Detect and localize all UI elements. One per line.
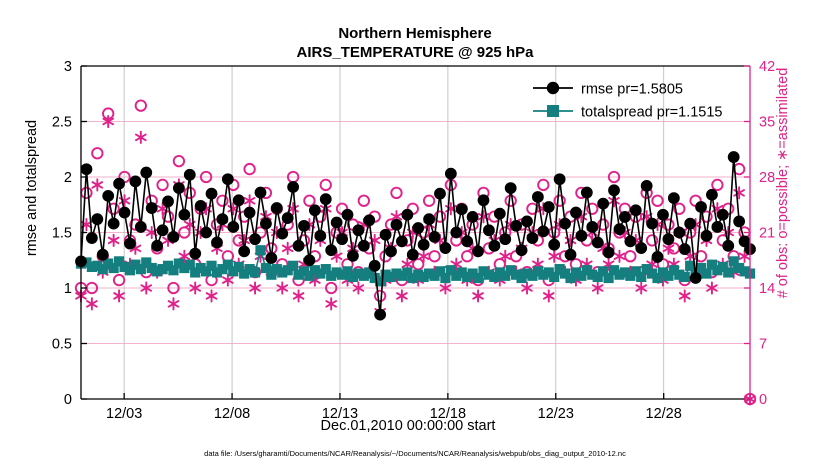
rmse-marker bbox=[114, 178, 125, 189]
rmse-marker bbox=[625, 236, 636, 247]
obs-possible-marker bbox=[244, 164, 254, 174]
rmse-marker bbox=[636, 243, 647, 254]
legend: rmse pr=1.5805totalspread pr=1.1515 bbox=[533, 81, 722, 120]
obs-assimilated-marker bbox=[245, 195, 255, 206]
obs-assimilated-marker bbox=[169, 298, 179, 309]
rmse-marker bbox=[440, 243, 451, 254]
rmse-marker bbox=[244, 207, 255, 218]
rmse-marker bbox=[532, 192, 543, 203]
rmse-marker bbox=[707, 189, 718, 200]
rmse-marker bbox=[685, 218, 696, 229]
rmse-marker bbox=[516, 245, 527, 256]
obs-possible-marker bbox=[391, 188, 401, 198]
obs-assimilated-marker bbox=[114, 290, 124, 301]
rmse-marker bbox=[701, 230, 712, 241]
totalspread-marker bbox=[702, 269, 711, 278]
rmse-marker bbox=[250, 234, 261, 245]
rmse-marker bbox=[592, 237, 603, 248]
plot-canvas: 00.511.522.5307142128354212/0312/0812/13… bbox=[0, 0, 830, 470]
rmse-marker bbox=[494, 208, 505, 219]
obs-assimilated-marker bbox=[207, 290, 217, 301]
rmse-marker bbox=[184, 169, 195, 180]
rmse-marker bbox=[125, 238, 136, 249]
rmse-marker bbox=[402, 209, 413, 220]
rmse-marker bbox=[163, 196, 174, 207]
rmse-marker bbox=[239, 246, 250, 257]
obs-possible-marker bbox=[359, 196, 369, 206]
rmse-marker bbox=[424, 214, 435, 225]
totalspread-marker bbox=[250, 268, 259, 277]
obs-possible-marker bbox=[174, 156, 184, 166]
rmse-marker bbox=[108, 218, 119, 229]
rmse-marker bbox=[391, 219, 402, 230]
rmse-marker bbox=[174, 183, 185, 194]
rmse-marker bbox=[728, 152, 739, 163]
totalspread-marker bbox=[724, 268, 733, 277]
rmse-marker bbox=[152, 240, 163, 251]
rmse-marker bbox=[647, 218, 658, 229]
ytick-right-label: 14 bbox=[759, 281, 775, 297]
obs-assimilated-marker bbox=[87, 298, 97, 309]
rmse-marker bbox=[467, 212, 478, 223]
rmse-marker bbox=[206, 188, 217, 199]
rmse-marker bbox=[369, 260, 380, 271]
ytick-left-label: 2 bbox=[64, 170, 72, 186]
rmse-marker bbox=[473, 246, 484, 257]
rmse-marker bbox=[614, 224, 625, 235]
rmse-marker bbox=[717, 209, 728, 220]
rmse-marker bbox=[505, 183, 516, 194]
legend-marker-square bbox=[547, 105, 559, 117]
obs-assimilated-marker bbox=[92, 179, 102, 190]
rmse-marker bbox=[190, 248, 201, 259]
rmse-marker bbox=[723, 240, 734, 251]
rmse-marker bbox=[543, 202, 554, 213]
rmse-marker bbox=[554, 174, 565, 185]
legend-label-0: rmse pr=1.5805 bbox=[581, 81, 683, 97]
obs-possible-marker bbox=[505, 196, 515, 206]
rmse-marker bbox=[500, 234, 511, 245]
obs-assimilated-marker bbox=[680, 290, 690, 301]
rmse-marker bbox=[696, 202, 707, 213]
rmse-marker bbox=[320, 194, 331, 205]
rmse-marker bbox=[522, 216, 533, 227]
obs-possible-marker bbox=[462, 251, 472, 261]
rmse-marker bbox=[97, 249, 108, 260]
rmse-marker bbox=[668, 193, 679, 204]
obs-assimilated-marker bbox=[283, 243, 293, 254]
rmse-marker bbox=[712, 222, 723, 233]
obs-possible-marker bbox=[429, 251, 439, 261]
rmse-marker bbox=[261, 218, 272, 229]
obs-possible-marker bbox=[114, 275, 124, 285]
rmse-marker bbox=[299, 220, 310, 231]
rmse-marker bbox=[282, 213, 293, 224]
obs-possible-marker bbox=[375, 291, 385, 301]
rmse-marker bbox=[358, 240, 369, 251]
rmse-marker bbox=[690, 273, 701, 284]
rmse-marker bbox=[663, 234, 674, 245]
rmse-marker bbox=[734, 216, 745, 227]
y-axis-right-label: # of obs: o=possible; ∗=assimilated bbox=[775, 33, 791, 333]
obs-possible-marker bbox=[92, 148, 102, 158]
y-axis-left-label: rmse and totalspread bbox=[24, 38, 40, 338]
obs-possible-marker bbox=[652, 196, 662, 206]
obs-assimilated-marker bbox=[473, 290, 483, 301]
rmse-marker bbox=[375, 309, 386, 320]
obs-assimilated-marker bbox=[615, 251, 625, 262]
obs-possible-marker bbox=[136, 100, 146, 110]
ytick-left-label: 1.5 bbox=[52, 226, 72, 242]
rmse-marker bbox=[571, 207, 582, 218]
rmse-marker bbox=[489, 240, 500, 251]
rmse-marker bbox=[146, 203, 157, 214]
rmse-marker bbox=[386, 246, 397, 257]
rmse-marker bbox=[397, 236, 408, 247]
rmse-marker bbox=[271, 203, 282, 214]
obs-assimilated-marker bbox=[294, 290, 304, 301]
rmse-marker bbox=[255, 187, 266, 198]
rmse-marker bbox=[641, 180, 652, 191]
rmse-marker bbox=[652, 252, 663, 263]
rmse-marker bbox=[103, 190, 114, 201]
obs-possible-marker bbox=[304, 196, 314, 206]
rmse-marker bbox=[560, 218, 571, 229]
rmse-marker bbox=[407, 249, 418, 260]
rmse-marker bbox=[348, 250, 359, 261]
obs-possible-marker bbox=[157, 180, 167, 190]
legend-marker-circle bbox=[547, 82, 559, 94]
rmse-marker bbox=[413, 223, 424, 234]
rmse-marker bbox=[603, 247, 614, 258]
rmse-marker bbox=[478, 195, 489, 206]
rmse-marker bbox=[679, 244, 690, 255]
rmse-marker bbox=[538, 226, 549, 237]
rmse-marker bbox=[456, 204, 467, 215]
rmse-marker bbox=[353, 225, 364, 236]
figure-root: Northern Hemisphere AIRS_TEMPERATURE @ 9… bbox=[0, 0, 830, 470]
rmse-marker bbox=[337, 234, 348, 245]
obs-assimilated-marker bbox=[109, 235, 119, 246]
ytick-right-label: 28 bbox=[759, 170, 775, 186]
obs-possible-marker bbox=[625, 251, 635, 261]
totalspread-marker bbox=[680, 272, 689, 281]
rmse-marker bbox=[435, 188, 446, 199]
obs-possible-marker bbox=[538, 180, 548, 190]
rmse-marker bbox=[266, 253, 277, 264]
totalspread-marker bbox=[256, 246, 265, 255]
rmse-marker bbox=[293, 240, 304, 251]
rmse-marker bbox=[445, 168, 456, 179]
rmse-marker bbox=[217, 214, 228, 225]
obs-possible-marker bbox=[413, 259, 423, 269]
rmse-marker bbox=[462, 236, 473, 247]
ytick-left-label: 0.5 bbox=[52, 337, 72, 353]
rmse-marker bbox=[581, 187, 592, 198]
rmse-marker bbox=[233, 195, 244, 206]
rmse-marker bbox=[587, 222, 598, 233]
rmse-marker bbox=[304, 255, 315, 266]
rmse-marker bbox=[179, 209, 190, 220]
rmse-marker bbox=[119, 207, 130, 218]
obs-assimilated-marker bbox=[397, 290, 407, 301]
rmse-marker bbox=[309, 205, 320, 216]
totalspread-marker bbox=[289, 261, 298, 270]
rmse-marker bbox=[598, 198, 609, 209]
x-axis-label: Dec.01,2010 00:00:00 start bbox=[0, 418, 816, 434]
ytick-right-label: 0 bbox=[759, 392, 767, 408]
rmse-marker bbox=[451, 227, 462, 238]
obs-assimilated-marker bbox=[326, 298, 336, 309]
rmse-marker bbox=[135, 222, 146, 233]
rmse-marker bbox=[331, 217, 342, 228]
rmse-marker bbox=[364, 215, 375, 226]
obs-assimilated-marker bbox=[136, 132, 146, 143]
rmse-marker bbox=[674, 227, 685, 238]
rmse-marker bbox=[418, 239, 429, 250]
rmse-marker bbox=[576, 230, 587, 241]
rmse-marker bbox=[222, 174, 233, 185]
obs-possible-marker bbox=[321, 180, 331, 190]
rmse-marker bbox=[658, 209, 669, 220]
rmse-marker bbox=[86, 233, 97, 244]
ytick-right-label: 21 bbox=[759, 226, 775, 242]
rmse-marker bbox=[549, 239, 560, 250]
rmse-marker bbox=[288, 182, 299, 193]
rmse-marker bbox=[527, 233, 538, 244]
rmse-marker bbox=[277, 228, 288, 239]
rmse-marker bbox=[565, 249, 576, 260]
obs-possible-marker bbox=[424, 196, 434, 206]
data-file-footer: data file: /Users/gharamti/Documents/NCA… bbox=[0, 449, 830, 458]
rmse-marker bbox=[92, 214, 103, 225]
rmse-marker bbox=[141, 167, 152, 178]
legend-label-1: totalspread pr=1.1515 bbox=[581, 104, 722, 120]
rmse-marker bbox=[212, 237, 223, 248]
ytick-right-label: 7 bbox=[759, 337, 767, 353]
rmse-marker bbox=[620, 212, 631, 223]
rmse-marker bbox=[511, 220, 522, 231]
ytick-left-label: 3 bbox=[64, 59, 72, 75]
rmse-marker bbox=[609, 185, 620, 196]
ytick-left-label: 0 bbox=[64, 392, 72, 408]
rmse-marker bbox=[157, 225, 168, 236]
obs-assimilated-marker bbox=[544, 290, 554, 301]
rmse-marker bbox=[380, 229, 391, 240]
ytick-left-label: 2.5 bbox=[52, 115, 72, 131]
obs-assimilated-marker bbox=[549, 251, 559, 262]
obs-possible-marker bbox=[712, 180, 722, 190]
rmse-marker bbox=[195, 200, 206, 211]
rmse-marker bbox=[201, 227, 212, 238]
rmse-marker bbox=[81, 164, 92, 175]
rmse-marker bbox=[484, 225, 495, 236]
rmse-marker bbox=[130, 176, 141, 187]
ytick-right-label: 35 bbox=[759, 115, 775, 131]
ytick-left-label: 1 bbox=[64, 281, 72, 297]
rmse-marker bbox=[168, 232, 179, 243]
rmse-marker bbox=[326, 245, 337, 256]
ytick-right-label: 42 bbox=[759, 59, 775, 75]
rmse-marker bbox=[342, 209, 353, 220]
rmse-marker bbox=[429, 232, 440, 243]
obs-possible-marker bbox=[81, 188, 91, 198]
rmse-marker bbox=[315, 230, 326, 241]
rmse-marker bbox=[228, 222, 239, 233]
rmse-marker bbox=[630, 205, 641, 216]
